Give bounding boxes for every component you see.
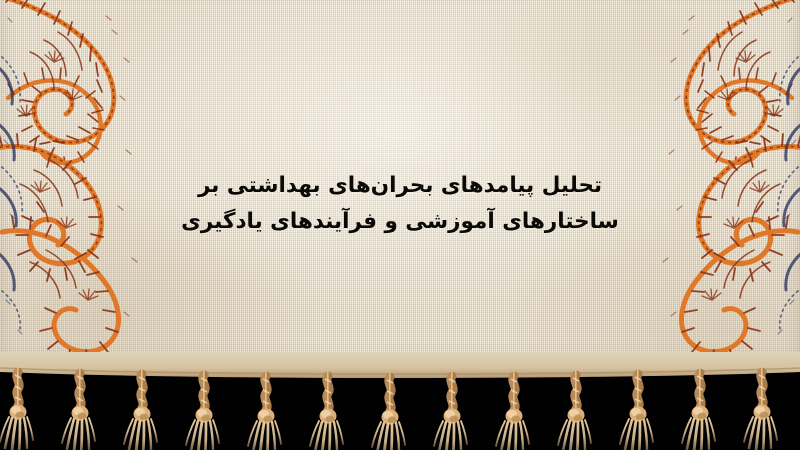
title-line-1: تحلیل پیامدهای بحران‌های بهداشتی بر	[0, 168, 800, 204]
knotted-tassel-fringe	[0, 352, 800, 450]
title-line-2: ساختارهای آموزشی و فرآیندهای یادگیری	[0, 204, 800, 240]
slide-title: تحلیل پیامدهای بحران‌های بهداشتی بر ساخت…	[0, 168, 800, 240]
title-slide: تحلیل پیامدهای بحران‌های بهداشتی بر ساخت…	[0, 0, 800, 450]
